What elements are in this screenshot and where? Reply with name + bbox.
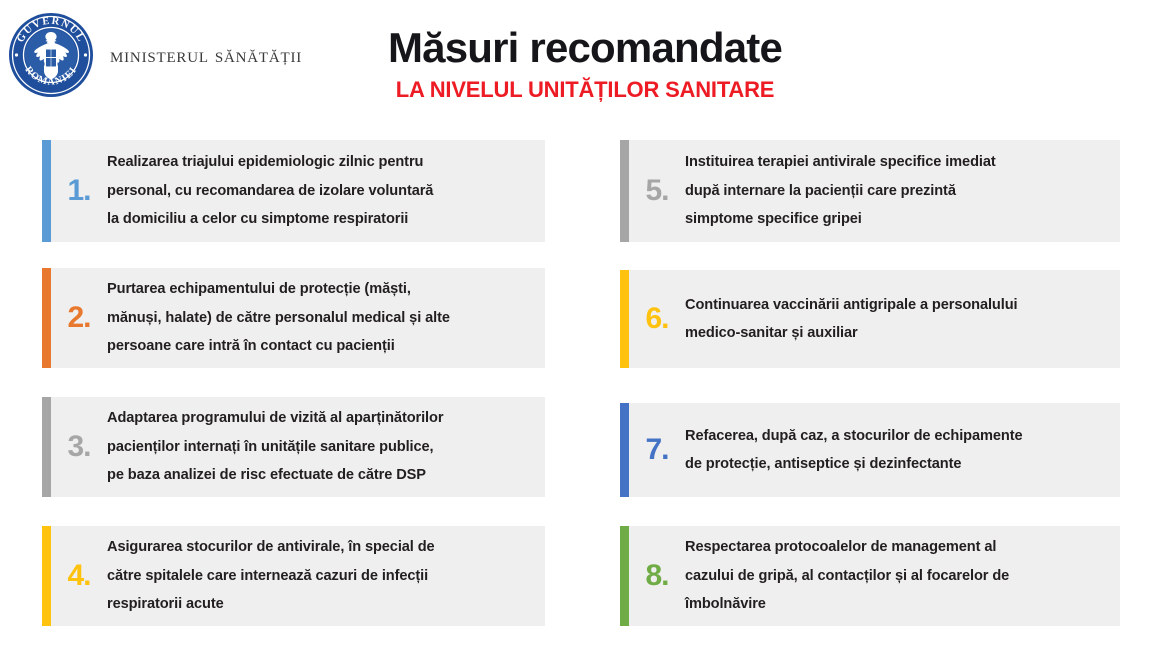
measure-line: mănuși, halate) de către personalul medi… — [107, 304, 531, 332]
measure-line: către spitalele care internează cazuri d… — [107, 562, 531, 590]
measure-text-4: Asigurarea stocurilor de antivirale, în … — [107, 526, 545, 626]
measure-card-2: 2. Purtarea echipamentului de protecție … — [42, 268, 545, 368]
measure-line: îmbolnăvire — [685, 590, 1106, 618]
accent-bar-1 — [42, 140, 51, 242]
measure-line: la domiciliu a celor cu simptome respira… — [107, 205, 531, 233]
measure-line: Adaptarea programului de vizită al aparț… — [107, 404, 531, 432]
measure-number-6: 6. — [629, 270, 685, 368]
measure-line: cazului de gripă, al contacților și al f… — [685, 562, 1106, 590]
measure-card-3: 3. Adaptarea programului de vizită al ap… — [42, 397, 545, 497]
measures-grid: 1. Realizarea triajului epidemiologic zi… — [0, 0, 1153, 654]
measure-text-6: Continuarea vaccinării antigripale a per… — [685, 270, 1120, 368]
measure-line: simptome specifice gripei — [685, 205, 1106, 233]
measure-number-3: 3. — [51, 397, 107, 497]
measure-number-4: 4. — [51, 526, 107, 626]
measure-line: pacienților internați în unitățile sanit… — [107, 433, 531, 461]
measure-text-7: Refacerea, după caz, a stocurilor de ech… — [685, 403, 1120, 497]
measure-line: Realizarea triajului epidemiologic zilni… — [107, 148, 531, 176]
measure-text-5: Instituirea terapiei antivirale specific… — [685, 140, 1120, 242]
measure-text-8: Respectarea protocoalelor de management … — [685, 526, 1120, 626]
measure-line: Continuarea vaccinării antigripale a per… — [685, 291, 1106, 319]
measure-line: medico-sanitar și auxiliar — [685, 319, 1106, 347]
measure-text-3: Adaptarea programului de vizită al aparț… — [107, 397, 545, 497]
accent-bar-7 — [620, 403, 629, 497]
measure-card-4: 4. Asigurarea stocurilor de antivirale, … — [42, 526, 545, 626]
measure-line: de protecție, antiseptice și dezinfectan… — [685, 450, 1106, 478]
measure-number-8: 8. — [629, 526, 685, 626]
accent-bar-5 — [620, 140, 629, 242]
measure-card-7: 7. Refacerea, după caz, a stocurilor de … — [620, 403, 1120, 497]
accent-bar-2 — [42, 268, 51, 368]
measure-line: Asigurarea stocurilor de antivirale, în … — [107, 533, 531, 561]
accent-bar-4 — [42, 526, 51, 626]
measure-number-2: 2. — [51, 268, 107, 368]
measure-line: Refacerea, după caz, a stocurilor de ech… — [685, 422, 1106, 450]
measure-number-1: 1. — [51, 140, 107, 242]
measure-number-7: 7. — [629, 403, 685, 497]
measure-line: personal, cu recomandarea de izolare vol… — [107, 177, 531, 205]
measure-line: persoane care intră în contact cu pacien… — [107, 332, 531, 360]
measure-card-1: 1. Realizarea triajului epidemiologic zi… — [42, 140, 545, 242]
measure-line: pe baza analizei de risc efectuate de că… — [107, 461, 531, 489]
measure-text-1: Realizarea triajului epidemiologic zilni… — [107, 140, 545, 242]
accent-bar-8 — [620, 526, 629, 626]
measure-line: Purtarea echipamentului de protecție (mă… — [107, 275, 531, 303]
measure-text-2: Purtarea echipamentului de protecție (mă… — [107, 268, 545, 368]
measure-card-6: 6. Continuarea vaccinării antigripale a … — [620, 270, 1120, 368]
measure-number-5: 5. — [629, 140, 685, 242]
measure-line: Respectarea protocoalelor de management … — [685, 533, 1106, 561]
measure-line: după internare la pacienții care prezint… — [685, 177, 1106, 205]
measure-card-8: 8. Respectarea protocoalelor de manageme… — [620, 526, 1120, 626]
measure-line: Instituirea terapiei antivirale specific… — [685, 148, 1106, 176]
accent-bar-3 — [42, 397, 51, 497]
accent-bar-6 — [620, 270, 629, 368]
measure-card-5: 5. Instituirea terapiei antivirale speci… — [620, 140, 1120, 242]
measure-line: respiratorii acute — [107, 590, 531, 618]
